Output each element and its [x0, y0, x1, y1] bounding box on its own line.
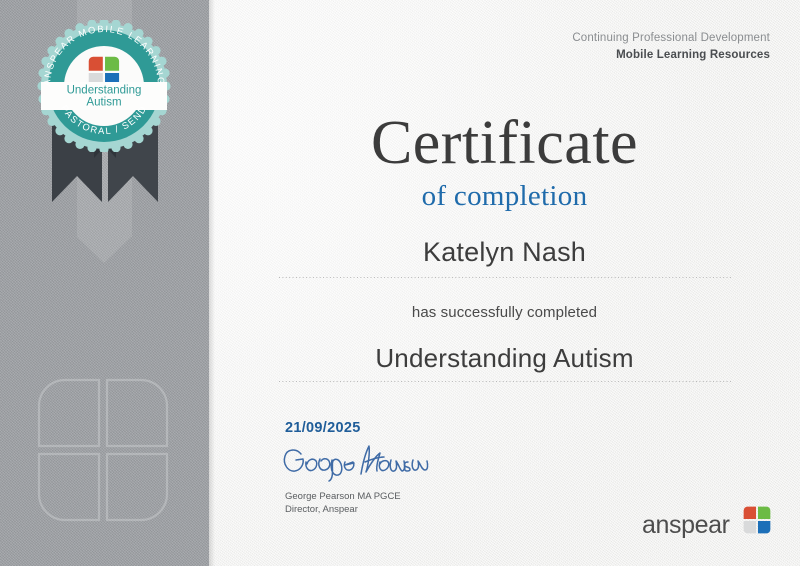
certificate-body: Certificate of completion Katelyn Nash h…: [209, 0, 800, 566]
anspear-petal-watermark-icon: [31, 378, 175, 522]
page-subtitle: of completion: [209, 180, 800, 213]
handwritten-signature-icon: [279, 440, 429, 484]
recipient-divider: [279, 277, 731, 278]
completion-statement: has successfully completed: [209, 304, 800, 321]
course-title: Understanding Autism: [209, 343, 800, 374]
left-decorative-panel: Understanding Autism ANSPEAR MOBILE LEAR…: [0, 0, 209, 566]
badge-banner-line1: Understanding: [67, 85, 142, 97]
signatory-role: Director, Anspear: [285, 504, 509, 517]
anspear-wordmark-text: anspear: [642, 511, 730, 539]
anspear-petal-icon: [743, 506, 771, 534]
course-divider: [279, 381, 731, 382]
page-title: Certificate: [209, 112, 800, 174]
signatory-details: George Pearson MA PGCE Director, Anspear: [285, 491, 509, 517]
course-award-badge: Understanding Autism ANSPEAR MOBILE LEAR…: [28, 20, 180, 152]
issue-date: 21/09/2025: [285, 420, 509, 436]
signatory-name: George Pearson MA PGCE: [285, 491, 509, 504]
badge-banner-line2: Autism: [86, 97, 121, 109]
signature-block: 21/09/2025 George Pearson MA P: [279, 420, 509, 517]
recipient-name: Katelyn Nash: [209, 237, 800, 268]
certificate-document: Understanding Autism ANSPEAR MOBILE LEAR…: [0, 0, 800, 566]
anspear-logo: anspear: [642, 510, 771, 540]
anspear-wordmark: anspear: [642, 510, 742, 540]
